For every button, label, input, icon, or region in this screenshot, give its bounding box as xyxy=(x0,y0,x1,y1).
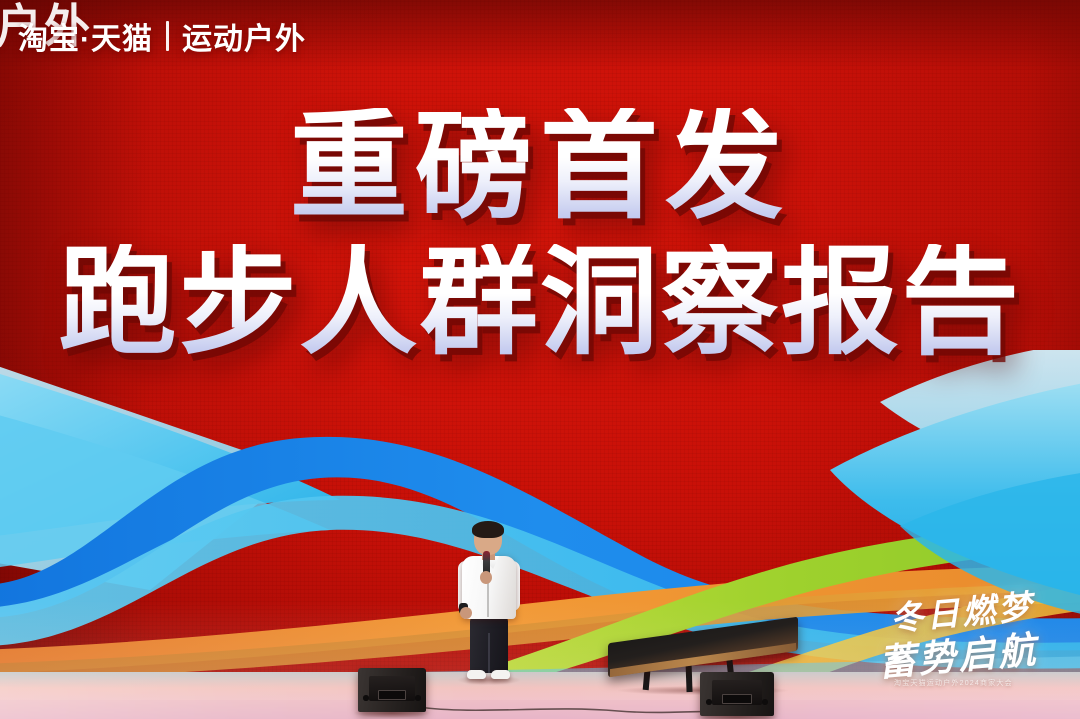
presenter-leg-split xyxy=(488,633,490,673)
stage-monitor-left-knob-a xyxy=(363,695,368,700)
headline-line-1: 重磅首发 xyxy=(0,108,1080,226)
stage-monitor-right xyxy=(700,672,774,716)
presenter-shoe-right xyxy=(491,670,510,679)
presenter-figure xyxy=(452,523,526,683)
ribbon-wave-graphic xyxy=(0,350,1080,690)
presenter-shoe-left xyxy=(467,670,486,679)
stage-monitor-right-knob-b xyxy=(762,699,768,704)
presenter-hand-left xyxy=(460,607,472,619)
stage-monitor-right-grill xyxy=(722,694,752,704)
brand-lockup-area: 户外 淘宝·天猫 运动户外 xyxy=(0,0,420,60)
brand-divider-icon xyxy=(166,21,169,51)
brand-category-label: 运动户外 xyxy=(182,14,306,58)
stage-monitor-left xyxy=(358,668,426,712)
stage-monitor-right-knob-a xyxy=(706,699,712,704)
stage-photo: 户外 淘宝·天猫 运动户外 重磅首发 跑步人群洞察报告 xyxy=(0,0,1080,719)
stage-monitor-left-knob-b xyxy=(415,695,420,700)
brand-lockup: 淘宝·天猫 运动户外 xyxy=(18,14,306,58)
presenter-hair xyxy=(472,521,504,538)
headline-line-2: 跑步人群洞察报告 xyxy=(0,244,1080,362)
presenter-hand-right xyxy=(480,571,492,584)
brand-marketplace-label: 淘宝·天猫 xyxy=(18,14,153,58)
stage-monitor-left-grill xyxy=(378,690,405,700)
headline-block: 重磅首发 跑步人群洞察报告 xyxy=(0,108,1080,362)
